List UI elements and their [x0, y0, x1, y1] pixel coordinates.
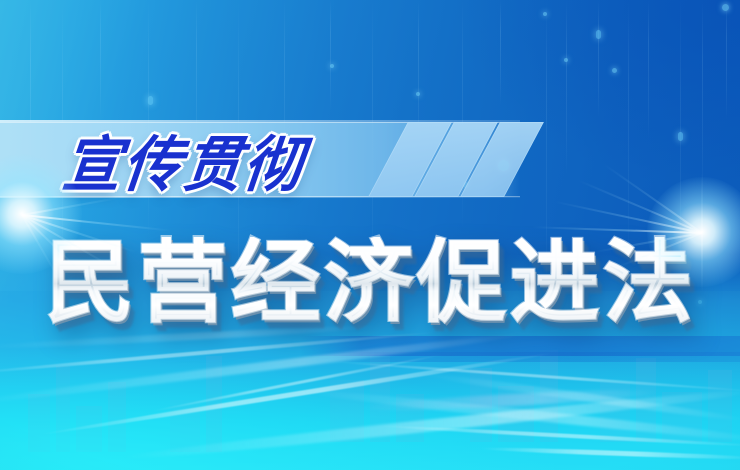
- page-title: 民营经济促进法: [45, 237, 696, 327]
- eyebrow-text: 宣传贯彻: [60, 122, 309, 198]
- poster-banner: 宣传贯彻 民营经济促进法: [0, 0, 740, 470]
- main-title-container: 民营经济促进法: [0, 228, 740, 336]
